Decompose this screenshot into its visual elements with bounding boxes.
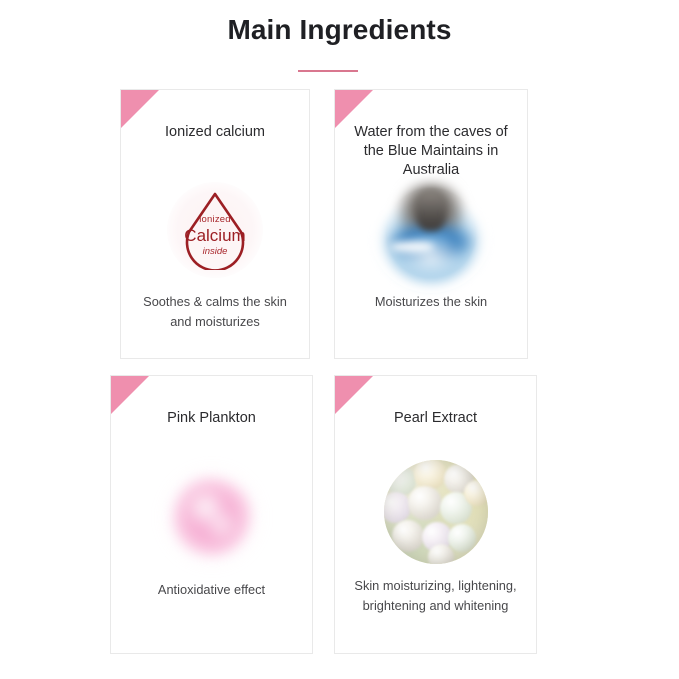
blue-water-rock-image: [376, 179, 486, 287]
ingredient-card-cave-water[interactable]: Water from the caves of the Blue Maintai…: [334, 89, 528, 359]
card-media: [335, 454, 536, 569]
page-title: Main Ingredients: [0, 14, 679, 46]
image-vignette: [370, 173, 492, 293]
plankton-blob: [174, 479, 250, 555]
pink-plankton-image: [160, 465, 264, 569]
ingredient-card-pearl-extract[interactable]: Pearl Extract Skin moisturizing, lighten…: [334, 375, 537, 654]
card-title: Pink Plankton: [123, 409, 300, 428]
card-description: Skin moisturizing, lightening, brighteni…: [347, 576, 524, 615]
card-description: Soothes & calms the skin and moisturizes: [133, 292, 297, 331]
card-media: [111, 462, 312, 572]
card-title: Water from the caves of the Blue Maintai…: [347, 123, 515, 180]
card-media: ionized Calcium inside: [121, 180, 309, 280]
card-media: [335, 178, 527, 288]
ingredient-card-pink-plankton[interactable]: Pink Plankton Antioxidative effect: [110, 375, 313, 654]
ingredient-card-ionized-calcium[interactable]: Ionized calcium ionized Calcium inside S…: [120, 89, 310, 359]
ionized-calcium-drop-logo-icon: ionized Calcium inside: [167, 182, 263, 278]
pearl-inner-shadow: [384, 460, 488, 564]
pearl-cluster-image: [384, 460, 488, 564]
card-description: Moisturizes the skin: [347, 292, 515, 312]
calcium-logo-line1: ionized: [167, 215, 263, 225]
title-divider: [298, 70, 358, 72]
calcium-logo-line3: inside: [167, 247, 263, 257]
card-description: Antioxidative effect: [123, 580, 300, 600]
card-title: Ionized calcium: [133, 123, 297, 142]
calcium-logo-line2: Calcium: [167, 227, 263, 244]
card-title: Pearl Extract: [347, 409, 524, 428]
calcium-logo-text: ionized Calcium inside: [167, 215, 263, 256]
